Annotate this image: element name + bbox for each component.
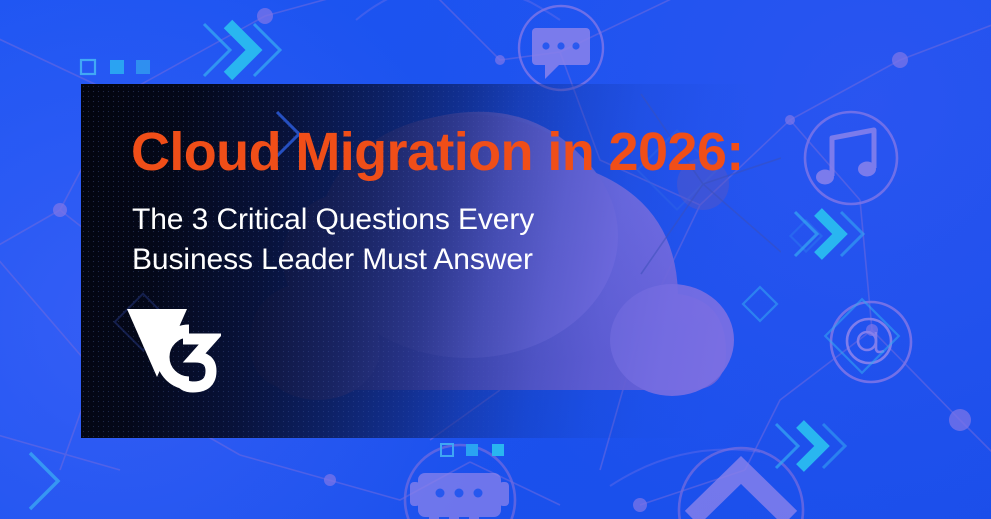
logo-3-mark	[179, 339, 211, 387]
vc3-logo-icon	[125, 305, 221, 405]
logo-v-mark	[127, 309, 187, 377]
hero-banner: Cloud Migration in 2026: The 3 Critical …	[0, 0, 991, 519]
chevron-card-topleft	[277, 112, 299, 156]
